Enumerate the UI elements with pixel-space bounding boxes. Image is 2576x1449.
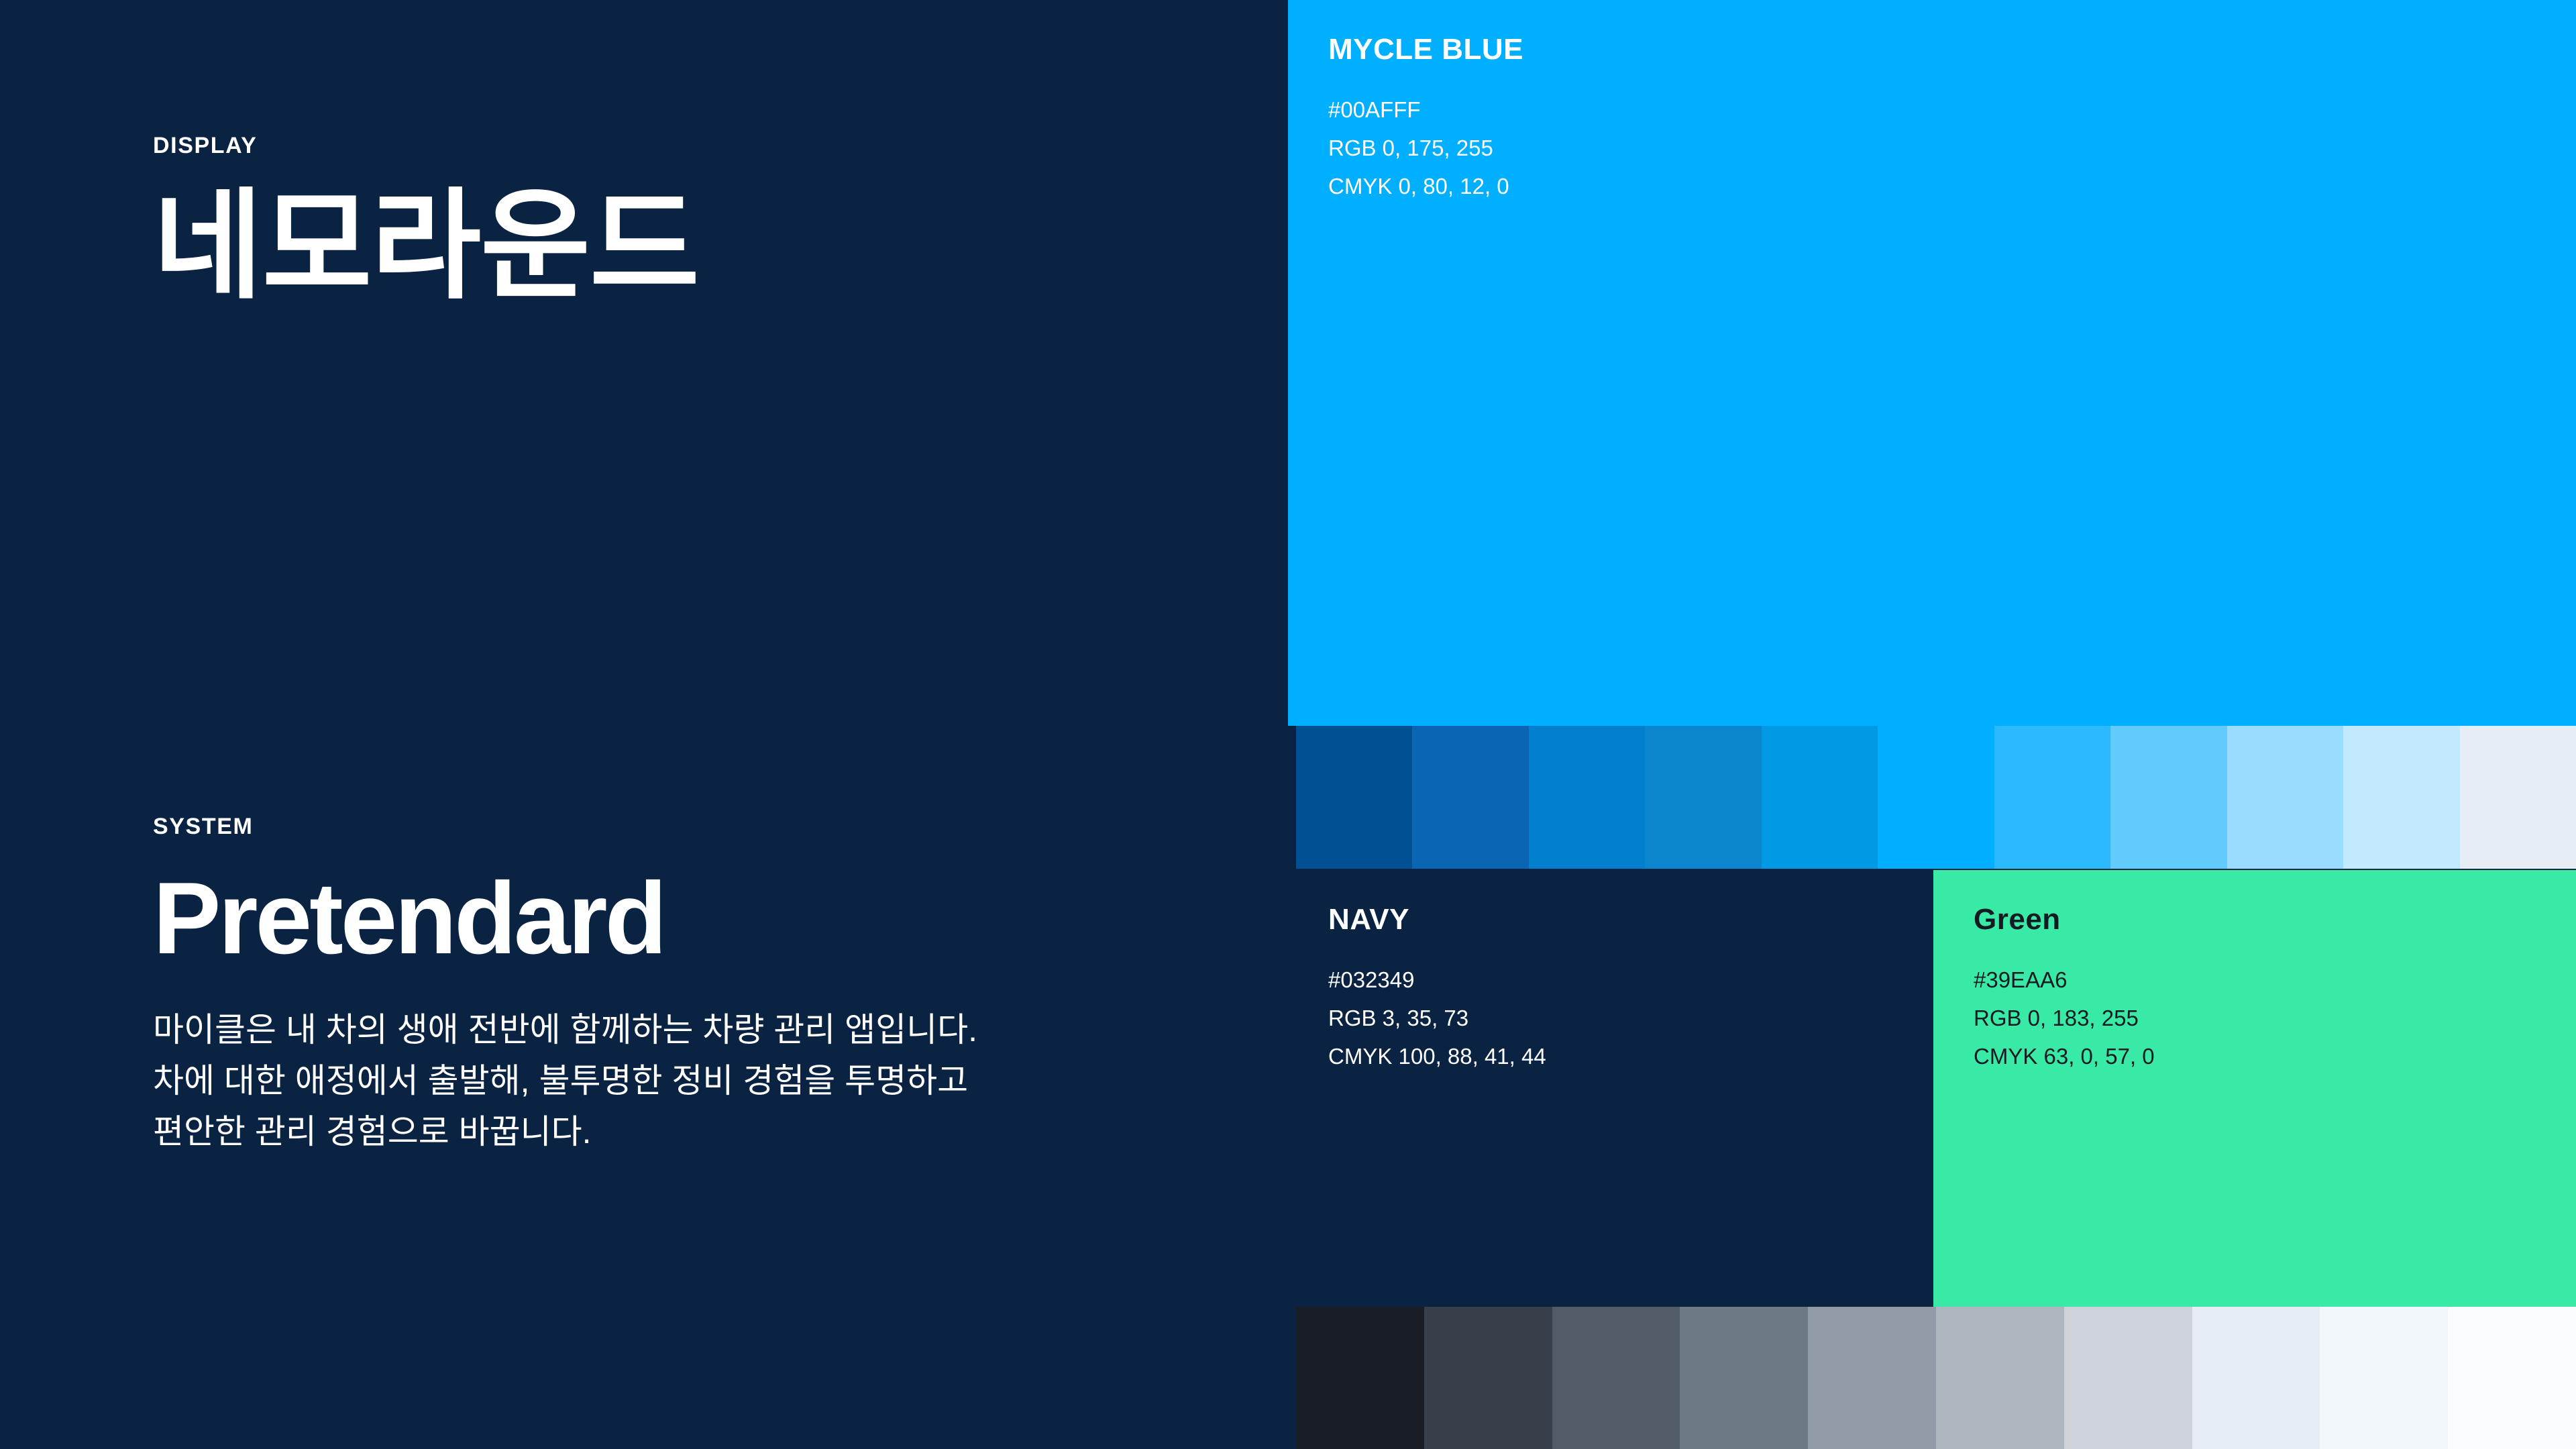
swatch-green-meta: Green #39EAA6 RGB 0, 183, 255 CMYK 63, 0…: [1974, 905, 2155, 1075]
display-typeface-block: DISPLAY 네모라운드: [153, 134, 699, 306]
blue-ramp-step-10: [2343, 726, 2459, 869]
blue-ramp-step-8: [2110, 726, 2226, 869]
swatch-green-cmyk: CMYK 63, 0, 57, 0: [1974, 1038, 2155, 1076]
gray-ramp-step-8: [2192, 1307, 2320, 1449]
gray-ramp-step-10: [2448, 1307, 2576, 1449]
blue-tint-shade-ramp: [1296, 726, 2576, 869]
display-typeface-specimen: 네모라운드: [153, 186, 699, 306]
swatch-green-name: Green: [1974, 905, 2155, 934]
swatch-navy-values: #032349 RGB 3, 35, 73 CMYK 100, 88, 41, …: [1328, 961, 1546, 1075]
typography-panel: DISPLAY 네모라운드 SYSTEM Pretendard 마이클은 내 차…: [0, 0, 1288, 1449]
gray-ramp-step-3: [1552, 1307, 1680, 1449]
color-palette-panel: MYCLE BLUE #00AFFF RGB 0, 175, 255 CMYK …: [1288, 0, 2576, 1449]
swatch-mycle-blue-name: MYCLE BLUE: [1328, 35, 1523, 64]
swatch-green-rgb: RGB 0, 183, 255: [1974, 1000, 2155, 1038]
gray-ramp-step-2: [1424, 1307, 1552, 1449]
blue-ramp-step-11: [2460, 726, 2576, 869]
system-eyebrow-label: SYSTEM: [153, 815, 977, 838]
swatch-navy-rgb: RGB 3, 35, 73: [1328, 1000, 1546, 1038]
blue-ramp-step-7: [1994, 726, 2110, 869]
brand-style-guide-page: DISPLAY 네모라운드 SYSTEM Pretendard 마이클은 내 차…: [0, 0, 2576, 1449]
swatch-navy-hex: #032349: [1328, 961, 1546, 1000]
neutral-gray-ramp: [1296, 1307, 2576, 1449]
swatch-mycle-blue-values: #00AFFF RGB 0, 175, 255 CMYK 0, 80, 12, …: [1328, 91, 1523, 205]
brand-description-line-3: 편안한 관리 경험으로 바꿉니다.: [153, 1106, 977, 1157]
gray-ramp-step-1: [1296, 1307, 1424, 1449]
brand-description-paragraph: 마이클은 내 차의 생애 전반에 함께하는 차량 관리 앱입니다. 차에 대한 …: [153, 1004, 977, 1157]
gray-ramp-step-6: [1936, 1307, 2064, 1449]
gray-ramp-step-5: [1808, 1307, 1936, 1449]
swatch-mycle-blue: MYCLE BLUE #00AFFF RGB 0, 175, 255 CMYK …: [1288, 0, 2576, 726]
swatch-mycle-blue-cmyk: CMYK 0, 80, 12, 0: [1328, 168, 1523, 206]
display-eyebrow-label: DISPLAY: [153, 134, 699, 157]
system-typeface-specimen: Pretendard: [153, 867, 977, 969]
swatch-navy: NAVY #032349 RGB 3, 35, 73 CMYK 100, 88,…: [1288, 870, 1932, 1307]
swatch-green-values: #39EAA6 RGB 0, 183, 255 CMYK 63, 0, 57, …: [1974, 961, 2155, 1075]
gray-ramp-step-7: [2064, 1307, 2192, 1449]
blue-ramp-step-4: [1645, 726, 1761, 869]
swatch-green: Green #39EAA6 RGB 0, 183, 255 CMYK 63, 0…: [1933, 870, 2576, 1307]
blue-ramp-step-6: [1878, 726, 1994, 869]
system-typeface-block: SYSTEM Pretendard 마이클은 내 차의 생애 전반에 함께하는 …: [153, 815, 977, 1157]
swatch-navy-meta: NAVY #032349 RGB 3, 35, 73 CMYK 100, 88,…: [1328, 905, 1546, 1075]
blue-ramp-step-9: [2227, 726, 2343, 869]
blue-ramp-step-3: [1529, 726, 1645, 869]
gray-ramp-step-4: [1680, 1307, 1808, 1449]
brand-description-line-2: 차에 대한 애정에서 출발해, 불투명한 정비 경험을 투명하고: [153, 1055, 977, 1106]
brand-description-line-1: 마이클은 내 차의 생애 전반에 함께하는 차량 관리 앱입니다.: [153, 1004, 977, 1055]
swatch-green-hex: #39EAA6: [1974, 961, 2155, 1000]
blue-ramp-step-5: [1762, 726, 1878, 869]
blue-ramp-step-1: [1296, 726, 1412, 869]
swatch-navy-cmyk: CMYK 100, 88, 41, 44: [1328, 1038, 1546, 1076]
swatch-mycle-blue-meta: MYCLE BLUE #00AFFF RGB 0, 175, 255 CMYK …: [1328, 35, 1523, 205]
blue-ramp-step-2: [1412, 726, 1528, 869]
swatch-navy-name: NAVY: [1328, 905, 1546, 934]
swatch-mycle-blue-rgb: RGB 0, 175, 255: [1328, 129, 1523, 168]
gray-ramp-step-9: [2320, 1307, 2448, 1449]
swatch-mycle-blue-hex: #00AFFF: [1328, 91, 1523, 129]
